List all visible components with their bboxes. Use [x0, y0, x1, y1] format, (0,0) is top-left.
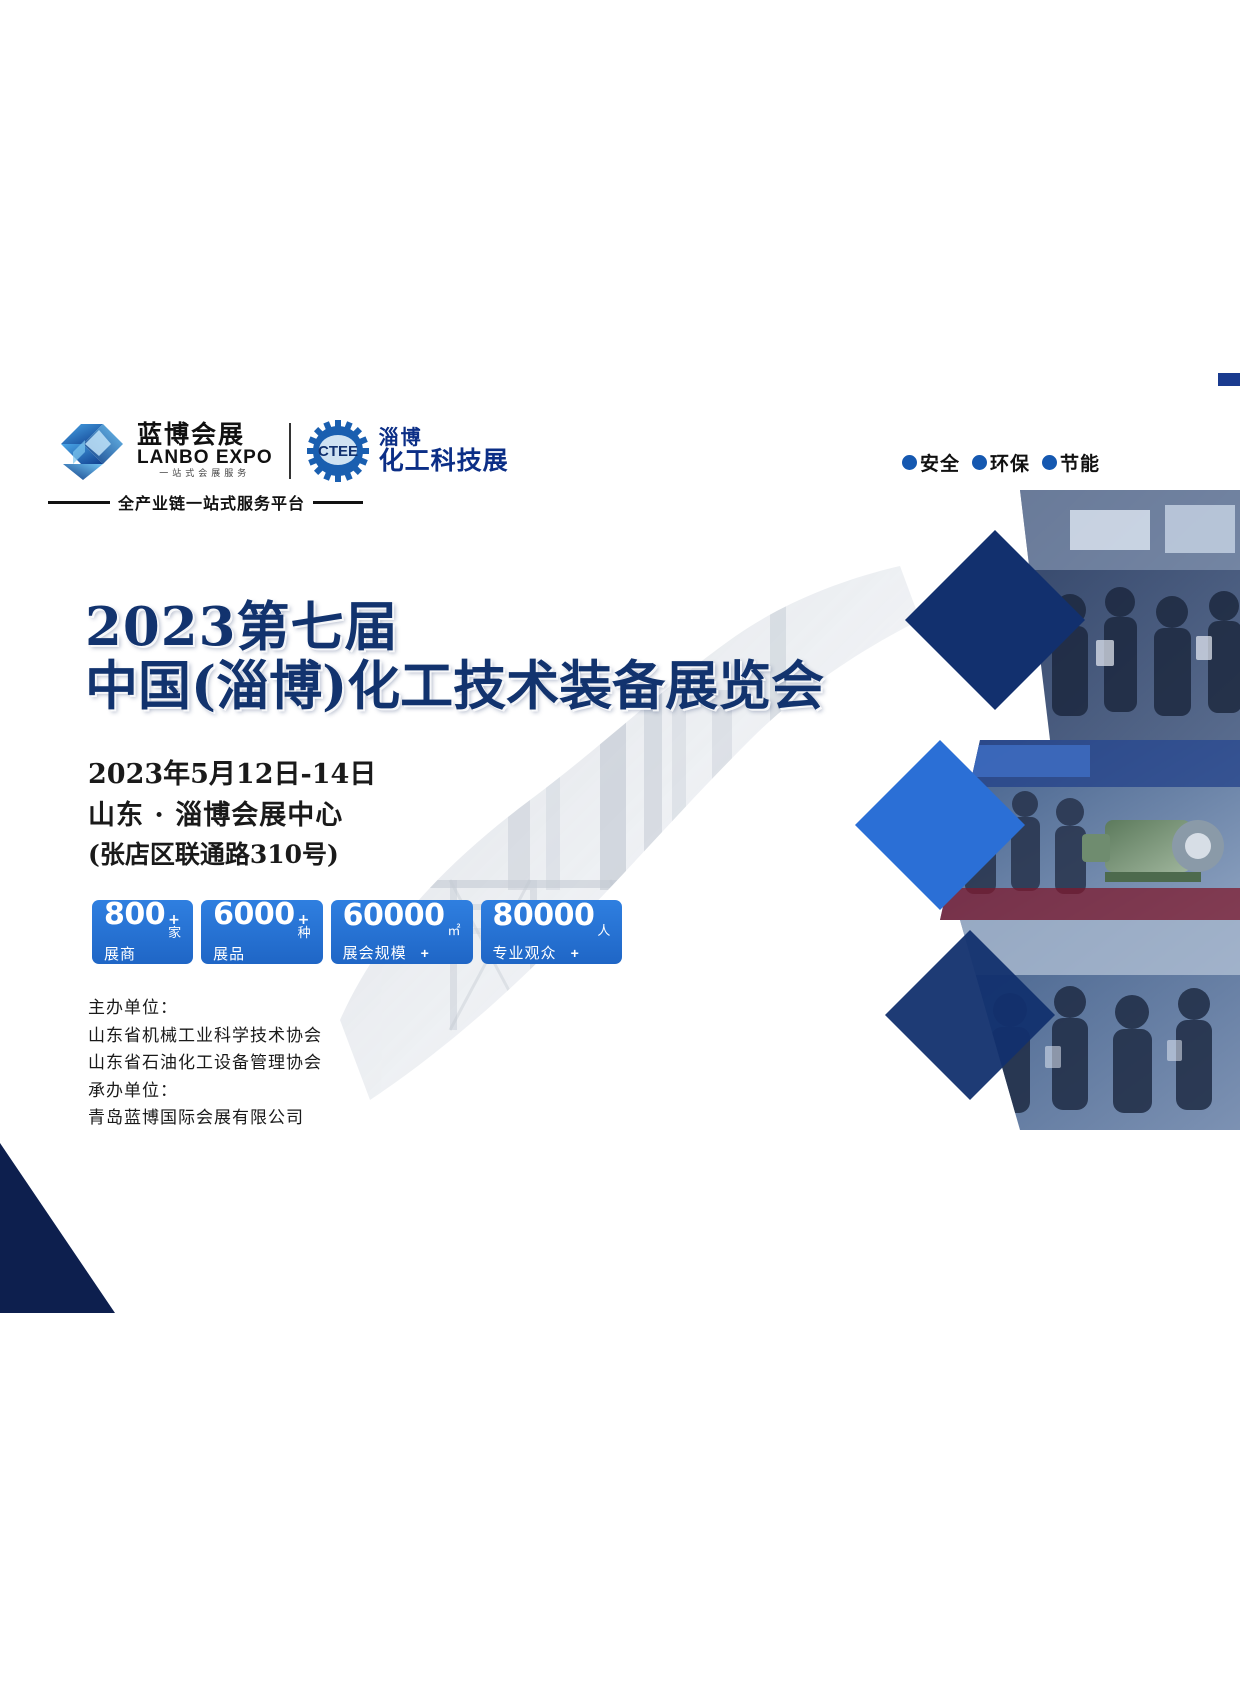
lanbo-name-sub: 一站式会展服务	[137, 469, 273, 481]
keyword-environment: 环保	[972, 449, 1030, 476]
ctee-cn-line2: 化工科技展	[379, 448, 509, 475]
tagline-rule-right	[313, 501, 363, 504]
tagline-text: 全产业链一站式服务平台	[110, 490, 313, 514]
brand-header: 蓝博会展 LANBO EXPO 一站式会展服务	[55, 418, 509, 484]
title-line-1: 2023第七届	[85, 598, 824, 657]
keyword-label: 环保	[990, 449, 1030, 476]
ctee-gear-icon: CTEE	[307, 420, 369, 482]
stat-exhibits: 6000 + 种 展品	[201, 900, 323, 964]
keyword-label: 安全	[920, 449, 960, 476]
organizer-label: 承办单位：	[88, 1078, 322, 1106]
stat-number: 60000	[343, 901, 445, 931]
lanbo-name-cn: 蓝博会展	[137, 422, 273, 448]
stat-unit: ㎡	[448, 925, 461, 939]
keyword-badges: 安全 环保 节能	[902, 449, 1100, 476]
poster-canvas: 蓝博会展 LANBO EXPO 一站式会展服务	[0, 0, 1240, 1683]
stat-unit: 种	[298, 927, 311, 941]
stat-superscript: +	[168, 913, 180, 927]
logo-divider	[289, 423, 291, 479]
keyword-energy-saving: 节能	[1042, 449, 1100, 476]
corner-wedge-bottom-left	[0, 1143, 115, 1313]
stat-exhibition-area: 60000 ㎡ 展会规模 +	[331, 900, 473, 964]
host-label: 主办单位：	[88, 995, 322, 1023]
lanbo-name-en: LANBO EXPO	[137, 448, 273, 469]
keyword-label: 节能	[1060, 449, 1100, 476]
ctee-badge-text: CTEE	[318, 443, 358, 460]
corner-marker-square	[1218, 373, 1240, 386]
stat-caption-plus: +	[421, 945, 429, 961]
stat-number: 80000	[493, 901, 595, 931]
stat-caption: 展品	[213, 943, 245, 964]
stat-caption-plus: +	[571, 945, 579, 961]
keyword-safety: 安全	[902, 449, 960, 476]
stats-row: 800 + 家 展商 6000 + 种 展品	[92, 900, 622, 964]
stat-unit: 家	[168, 927, 181, 941]
ctee-name-cn: 淄博 化工科技展	[379, 427, 509, 475]
stat-unit: 人	[597, 925, 610, 939]
event-venue: 山东 · 淄博会展中心	[88, 796, 376, 837]
stat-caption: 专业观众	[493, 942, 557, 963]
ctee-lockup: CTEE 淄博 化工科技展	[307, 420, 509, 482]
bullet-dot-icon	[1042, 455, 1057, 470]
organizers-block: 主办单位： 山东省机械工业科学技术协会 山东省石油化工设备管理协会 承办单位： …	[88, 995, 322, 1133]
stat-exhibitors: 800 + 家 展商	[92, 900, 193, 964]
event-date: 2023年5月12日-14日	[88, 755, 376, 796]
stat-number: 6000	[213, 900, 295, 930]
event-address: (张店区联通路310号)	[88, 836, 376, 874]
tagline-rule-left	[48, 501, 110, 504]
bullet-dot-icon	[972, 455, 987, 470]
stat-superscript: +	[298, 913, 310, 927]
tagline-row: 全产业链一站式服务平台	[48, 490, 388, 514]
organizer-name: 青岛蓝博国际会展有限公司	[88, 1105, 322, 1133]
stat-visitors: 80000 人 专业观众 +	[481, 900, 623, 964]
exhibition-photo-montage	[820, 490, 1240, 1130]
stat-caption: 展商	[104, 943, 136, 964]
event-meta: 2023年5月12日-14日 山东 · 淄博会展中心 (张店区联通路310号)	[88, 755, 376, 874]
lanbo-wordmark: 蓝博会展 LANBO EXPO 一站式会展服务	[137, 422, 273, 481]
stat-caption: 展会规模	[343, 942, 407, 963]
lanbo-diamond-logo-icon	[55, 418, 129, 484]
bullet-dot-icon	[902, 455, 917, 470]
stat-number: 800	[104, 900, 165, 930]
host-name: 山东省机械工业科学技术协会	[88, 1023, 322, 1051]
host-name: 山东省石油化工设备管理协会	[88, 1050, 322, 1078]
page-title: 2023第七届 中国(淄博)化工技术装备展览会	[85, 598, 824, 717]
title-line-2: 中国(淄博)化工技术装备展览会	[85, 657, 824, 716]
ctee-cn-line1: 淄博	[379, 427, 509, 448]
